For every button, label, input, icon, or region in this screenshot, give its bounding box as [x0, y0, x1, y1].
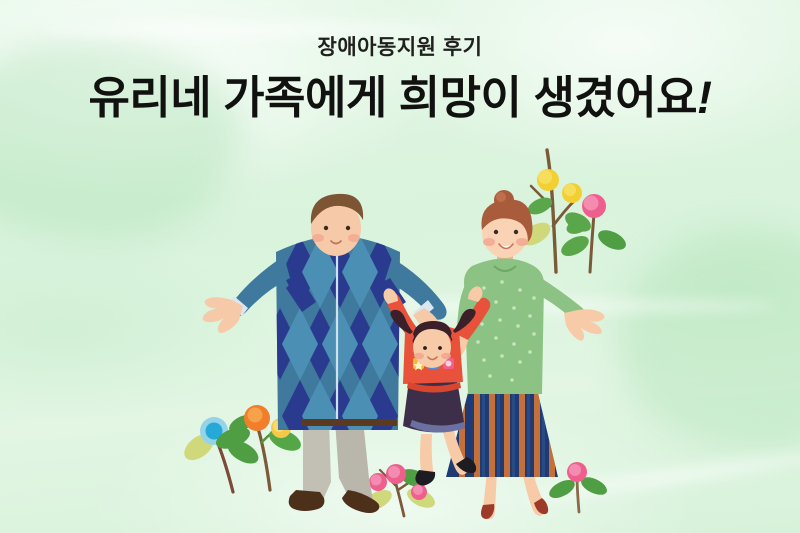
page-title: 유리네 가족에게 희망이 생겼어요! — [0, 73, 800, 123]
headline-block: 장애아동지원 후기 유리네 가족에게 희망이 생겼어요! — [0, 36, 800, 123]
campaign-poster: 장애아동지원 후기 유리네 가족에게 희망이 생겼어요! — [0, 0, 800, 533]
father-belt — [301, 419, 397, 426]
page-title-exclamation: ! — [697, 72, 712, 123]
page-title-text: 유리네 가족에게 희망이 생겼어요 — [88, 72, 697, 123]
child-shoe-left — [415, 470, 435, 486]
mother-hand-right — [564, 309, 605, 340]
father-shoe-left — [289, 490, 325, 511]
kicker-text: 장애아동지원 후기 — [0, 36, 800, 59]
